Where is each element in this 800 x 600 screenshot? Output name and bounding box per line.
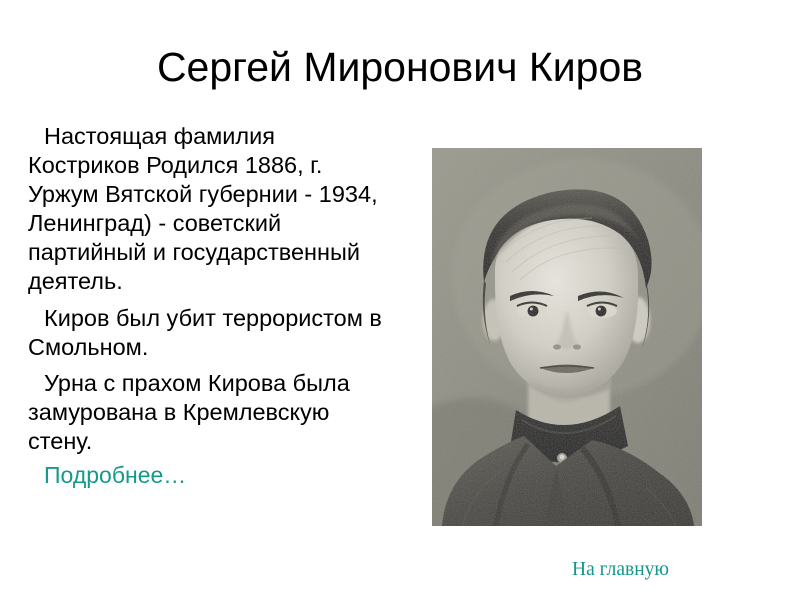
portrait-illustration [432, 148, 702, 526]
more-details-link[interactable]: Подробнее… [28, 461, 388, 489]
slide-title: Сергей Миронович Киров [0, 44, 800, 90]
home-link[interactable]: На главную [572, 558, 669, 582]
body-text-block: Настоящая фамилия Костриков Родился 1886… [28, 122, 388, 489]
presentation-slide: Сергей Миронович Киров Настоящая фамилия… [0, 0, 800, 600]
paragraph-assassination: Киров был убит террористом в Смольном. [28, 304, 388, 362]
portrait-photo [432, 148, 702, 526]
paragraph-burial: Урна с прахом Кирова была замурована в К… [28, 369, 388, 456]
paragraph-biography: Настоящая фамилия Костриков Родился 1886… [28, 122, 388, 296]
